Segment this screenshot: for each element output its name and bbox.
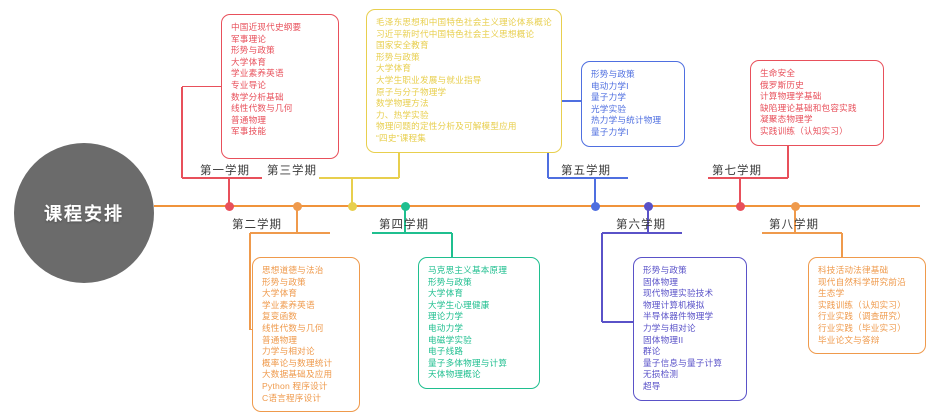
course-item: 物理计算机模拟 <box>643 300 737 312</box>
course-item: “四史”课程集 <box>376 133 552 145</box>
course-card-6[interactable]: 形势与政策固体物理现代物理实验技术物理计算机模拟半导体器件物理学力学与相对论固体… <box>633 257 747 401</box>
course-item: 行业实践（毕业实习） <box>818 323 916 335</box>
course-item: 军事技能 <box>231 126 329 138</box>
course-item: 生态学 <box>818 288 916 300</box>
timeline-node-7[interactable] <box>736 202 745 211</box>
course-item: 力、热学实验 <box>376 110 552 122</box>
course-item: 计算物理学基础 <box>760 91 874 103</box>
course-item: 物理问题的定性分析及可解模型应用 <box>376 121 552 133</box>
course-item: 线性代数与几何 <box>262 323 350 335</box>
course-item: 群论 <box>643 346 737 358</box>
timeline-node-2[interactable] <box>293 202 302 211</box>
course-item: 现代自然科学研究前沿 <box>818 277 916 289</box>
course-item: 中国近现代史纲要 <box>231 22 329 34</box>
course-list: 生命安全俄罗斯历史计算物理学基础缺陷理论基础和包容实践凝聚态物理学实践训练（认知… <box>760 68 874 138</box>
course-card-3[interactable]: 毛泽东思想和中国特色社会主义理论体系概论习近平新时代中国特色社会主义思想概论国家… <box>366 9 562 153</box>
course-card-4[interactable]: 马克思主义基本原理形势与政策大学体育大学生心理健康理论力学电动力学电磁学实验电子… <box>418 257 540 389</box>
course-card-8[interactable]: 科技活动法律基础现代自然科学研究前沿生态学实践训练（认知实习）行业实践（调查研究… <box>808 257 926 354</box>
course-item: 热力学与统计物理 <box>591 115 675 127</box>
course-item: 固体物理 <box>643 277 737 289</box>
course-item: 力学与相对论 <box>643 323 737 335</box>
course-item: 大学生心理健康 <box>428 300 530 312</box>
course-item: 缺陷理论基础和包容实践 <box>760 103 874 115</box>
timeline-diagram: 课程安排 第一学期中国近现代史纲要军事理论形势与政策大学体育学业素养英语专业导论… <box>0 0 928 419</box>
course-list: 思想道德与法治形势与政策大学体育学业素养英语复变函数线性代数与几何普通物理力学与… <box>262 265 350 404</box>
course-card-5[interactable]: 形势与政策电动力学I量子力学光学实验热力学与统计物理量子力学I <box>581 61 685 147</box>
course-item: 行业实践（调查研究） <box>818 311 916 323</box>
course-item: 俄罗斯历史 <box>760 80 874 92</box>
course-item: 超导 <box>643 381 737 393</box>
hub-node: 课程安排 <box>14 143 154 283</box>
course-card-2[interactable]: 思想道德与法治形势与政策大学体育学业素养英语复变函数线性代数与几何普通物理力学与… <box>252 257 360 412</box>
course-item: 大学体育 <box>428 288 530 300</box>
hub-label: 课程安排 <box>44 200 124 226</box>
course-item: 大数据基础及应用 <box>262 369 350 381</box>
course-item: 生命安全 <box>760 68 874 80</box>
course-list: 科技活动法律基础现代自然科学研究前沿生态学实践训练（认知实习）行业实践（调查研究… <box>818 265 916 346</box>
course-item: 线性代数与几何 <box>231 103 329 115</box>
course-item: 普通物理 <box>231 115 329 127</box>
course-item: Python 程序设计 <box>262 381 350 393</box>
timeline-node-4[interactable] <box>401 202 410 211</box>
timeline-node-3[interactable] <box>348 202 357 211</box>
timeline-node-8[interactable] <box>791 202 800 211</box>
course-item: 力学与相对论 <box>262 346 350 358</box>
course-item: 科技活动法律基础 <box>818 265 916 277</box>
semester-caption-1: 第一学期 <box>200 162 250 178</box>
course-item: 形势与政策 <box>428 277 530 289</box>
semester-caption-8: 第八学期 <box>769 216 819 232</box>
course-item: 量子力学 <box>591 92 675 104</box>
course-item: 电动力学I <box>591 81 675 93</box>
course-item: 数学物理方法 <box>376 98 552 110</box>
timeline-node-5[interactable] <box>591 202 600 211</box>
course-item: 毛泽东思想和中国特色社会主义理论体系概论 <box>376 17 552 29</box>
course-item: 量子信息与量子计算 <box>643 358 737 370</box>
course-item: 实践训练（认知实习） <box>818 300 916 312</box>
course-item: 实践训练（认知实习） <box>760 126 874 138</box>
course-item: 国家安全教育 <box>376 40 552 52</box>
course-list: 毛泽东思想和中国特色社会主义理论体系概论习近平新时代中国特色社会主义思想概论国家… <box>376 17 552 145</box>
course-item: 大学体育 <box>262 288 350 300</box>
semester-caption-2: 第二学期 <box>232 216 282 232</box>
course-item: 普通物理 <box>262 335 350 347</box>
course-item: 电磁学实验 <box>428 335 530 347</box>
course-item: 形势与政策 <box>376 52 552 64</box>
course-item: 量子力学I <box>591 127 675 139</box>
semester-caption-3: 第三学期 <box>267 162 317 178</box>
course-card-1[interactable]: 中国近现代史纲要军事理论形势与政策大学体育学业素养英语专业导论数学分析基础线性代… <box>221 14 339 159</box>
course-item: 理论力学 <box>428 311 530 323</box>
course-item: 马克思主义基本原理 <box>428 265 530 277</box>
course-list: 形势与政策电动力学I量子力学光学实验热力学与统计物理量子力学I <box>591 69 675 139</box>
semester-caption-6: 第六学期 <box>616 216 666 232</box>
course-item: 习近平新时代中国特色社会主义思想概论 <box>376 29 552 41</box>
course-item: C语言程序设计 <box>262 393 350 405</box>
course-item: 军事理论 <box>231 34 329 46</box>
course-item: 现代物理实验技术 <box>643 288 737 300</box>
course-item: 思想道德与法治 <box>262 265 350 277</box>
course-item: 形势与政策 <box>643 265 737 277</box>
course-item: 大学体育 <box>231 57 329 69</box>
semester-caption-5: 第五学期 <box>561 162 611 178</box>
semester-caption-4: 第四学期 <box>379 216 429 232</box>
course-item: 凝聚态物理学 <box>760 114 874 126</box>
course-list: 马克思主义基本原理形势与政策大学体育大学生心理健康理论力学电动力学电磁学实验电子… <box>428 265 530 381</box>
timeline-node-6[interactable] <box>644 202 653 211</box>
course-item: 概率论与数理统计 <box>262 358 350 370</box>
course-list: 形势与政策固体物理现代物理实验技术物理计算机模拟半导体器件物理学力学与相对论固体… <box>643 265 737 393</box>
course-item: 电动力学 <box>428 323 530 335</box>
course-item: 毕业论文与答辩 <box>818 335 916 347</box>
course-item: 数学分析基础 <box>231 92 329 104</box>
semester-bar-6 <box>616 232 682 234</box>
course-item: 无损检测 <box>643 369 737 381</box>
course-item: 形势与政策 <box>591 69 675 81</box>
timeline-node-1[interactable] <box>225 202 234 211</box>
course-item: 半导体器件物理学 <box>643 311 737 323</box>
course-item: 形势与政策 <box>262 277 350 289</box>
course-item: 大学体育 <box>376 63 552 75</box>
course-item: 电子线路 <box>428 346 530 358</box>
course-item: 学业素养英语 <box>262 300 350 312</box>
timeline-axis <box>154 205 920 207</box>
course-item: 大学生职业发展与就业指导 <box>376 75 552 87</box>
course-item: 专业导论 <box>231 80 329 92</box>
course-item: 学业素养英语 <box>231 68 329 80</box>
course-item: 原子与分子物理学 <box>376 87 552 99</box>
course-item: 复变函数 <box>262 311 350 323</box>
semester-caption-7: 第七学期 <box>712 162 762 178</box>
course-card-7[interactable]: 生命安全俄罗斯历史计算物理学基础缺陷理论基础和包容实践凝聚态物理学实践训练（认知… <box>750 60 884 146</box>
course-item: 天体物理概论 <box>428 369 530 381</box>
course-item: 固体物理II <box>643 335 737 347</box>
course-item: 量子多体物理与计算 <box>428 358 530 370</box>
course-item: 光学实验 <box>591 104 675 116</box>
course-item: 形势与政策 <box>231 45 329 57</box>
course-list: 中国近现代史纲要军事理论形势与政策大学体育学业素养英语专业导论数学分析基础线性代… <box>231 22 329 138</box>
